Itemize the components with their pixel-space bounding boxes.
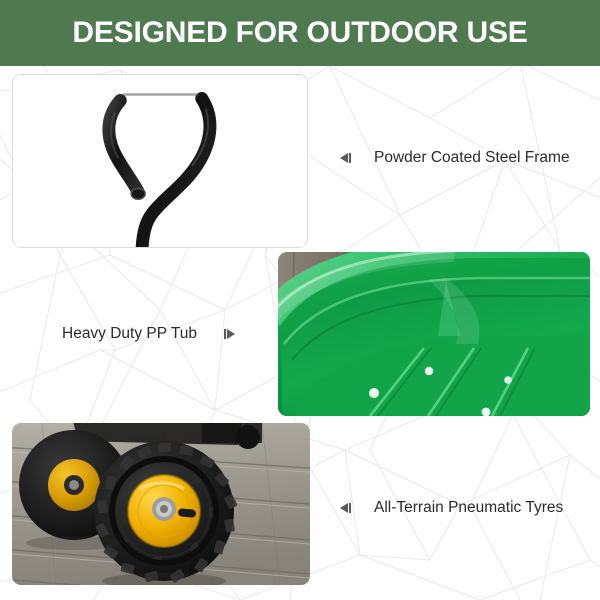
callout-all-terrain-pneumatic-tyres: All-Terrain Pneumatic Tyres — [338, 500, 563, 516]
callout-label-powder-coated-steel-frame: Powder Coated Steel Frame — [374, 150, 570, 166]
callout-label-heavy-duty-pp-tub: Heavy Duty PP Tub — [62, 326, 197, 342]
header-banner: DESIGNED FOR OUTDOOR USE — [0, 0, 600, 66]
infographic-root: DESIGNED FOR OUTDOOR USE — [0, 0, 600, 600]
arrow-left-bar-icon — [338, 502, 352, 514]
arrow-right-bar-icon — [223, 328, 237, 340]
page-title: DESIGNED FOR OUTDOOR USE — [72, 18, 527, 48]
handle-photo-panel — [12, 74, 308, 248]
tub-photo-panel — [278, 252, 590, 416]
callout-heavy-duty-pp-tub: Heavy Duty PP Tub — [62, 326, 237, 342]
green-pp-tub-photo — [278, 252, 590, 416]
callout-label-all-terrain-pneumatic-tyres: All-Terrain Pneumatic Tyres — [374, 500, 563, 516]
pneumatic-tyres-photo — [12, 423, 310, 585]
arrow-left-bar-icon — [338, 152, 352, 164]
powder-coated-handle-photo — [13, 75, 307, 247]
callout-powder-coated-steel-frame: Powder Coated Steel Frame — [338, 150, 570, 166]
wheels-photo-panel — [12, 423, 310, 585]
